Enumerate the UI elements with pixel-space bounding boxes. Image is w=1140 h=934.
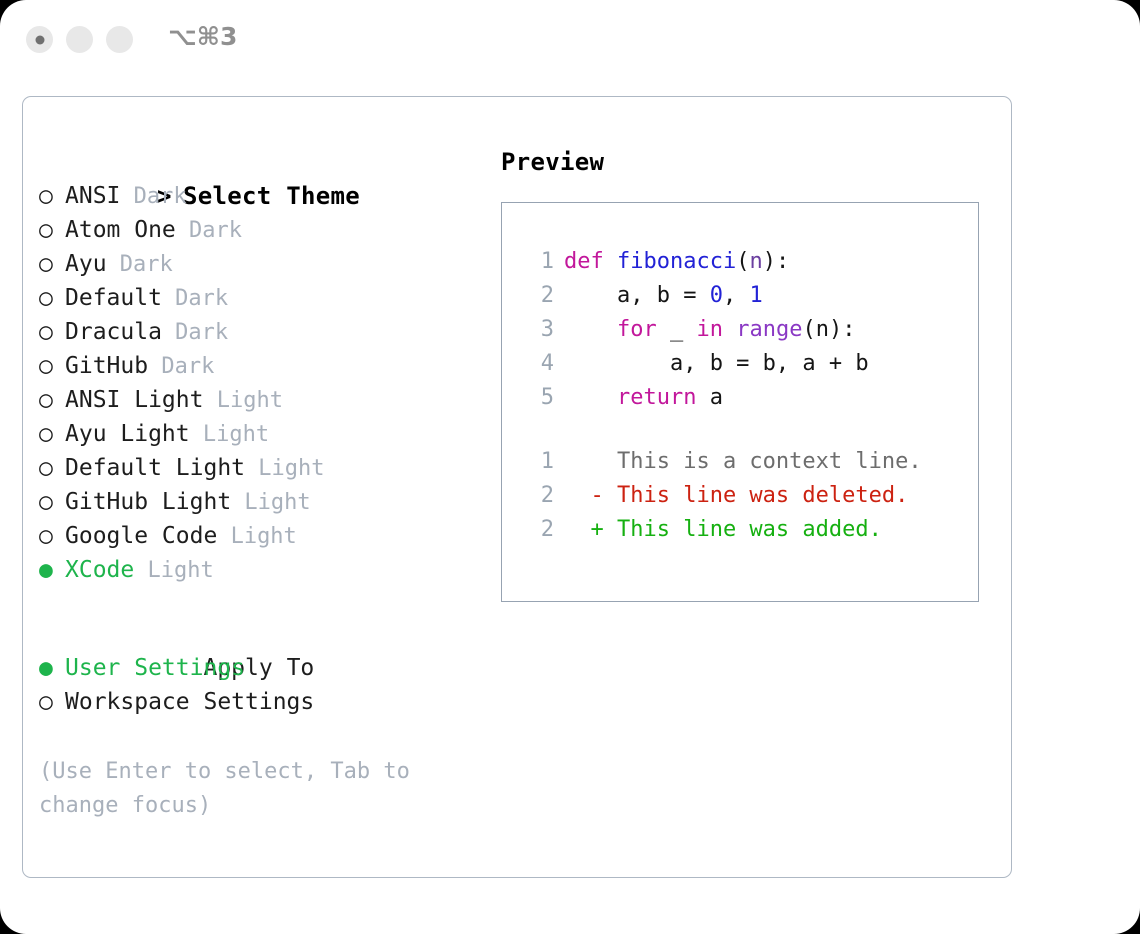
code-token: ): [763,249,790,274]
theme-option-variant: Light [217,524,296,549]
code-token [723,317,736,342]
code-token: ( [736,249,749,274]
radio-unselected-icon: ○ [39,383,65,417]
preview-box: 1def fibonacci(n):2 a, b = 0, 13 for _ i… [501,202,979,602]
theme-option-name: Dracula [65,319,162,345]
theme-option-variant: Light [203,388,282,413]
theme-option-list: ○ANSI Dark○Atom One Dark○Ayu Dark○Defaul… [39,179,469,587]
theme-option-name: GitHub [65,353,148,379]
code-token: a [696,385,723,410]
theme-option-name: Ayu [65,251,107,277]
radio-unselected-icon: ○ [39,485,65,519]
code-token: n [749,249,762,274]
theme-option-xcode[interactable]: ●XCode Light [39,553,469,587]
theme-option-variant: Light [134,558,213,583]
code-line-number: 5 [524,381,554,415]
theme-option-default-light[interactable]: ○Default Light Light [39,451,469,485]
theme-option-name: Default Light [65,455,245,481]
theme-option-ansi-light[interactable]: ○ANSI Light Light [39,383,469,417]
apply-to-option-label: User Settings [65,655,245,681]
apply-to-option-label: Workspace Settings [65,689,314,715]
apply-to-header: Apply To [39,617,469,651]
code-token: def [564,249,617,274]
radio-unselected-icon: ○ [39,179,65,213]
code-token [564,385,617,410]
preview-column: Preview 1def fibonacci(n):2 a, b = 0, 13… [501,145,991,602]
theme-option-name: Default [65,285,162,311]
theme-option-name: ANSI [65,183,120,209]
code-sample: 1def fibonacci(n):2 a, b = 0, 13 for _ i… [524,245,972,415]
diff-line-add: 2 + This line was added. [524,513,972,547]
theme-option-default[interactable]: ○Default Dark [39,281,469,315]
code-line-number: 1 [524,245,554,279]
theme-option-name: Google Code [65,523,217,549]
window-titlebar: ⌥⌘3 [0,0,1140,78]
theme-option-variant: Dark [162,320,228,345]
theme-list-column: >Select Theme ○ANSI Dark○Atom One Dark○A… [39,145,469,823]
keyboard-shortcut-label: ⌥⌘3 [168,22,237,51]
code-token: (n): [802,317,855,342]
code-line-number: 4 [524,347,554,381]
code-token: , [723,283,750,308]
code-token: a, b = b, a + b [564,351,869,376]
radio-selected-icon: ● [39,651,65,685]
code-preview-area: 1def fibonacci(n):2 a, b = 0, 13 for _ i… [524,245,972,547]
select-theme-header-label: Select Theme [183,182,360,210]
diff-sample: 1 This is a context line.2 - This line w… [524,445,972,547]
theme-option-dracula[interactable]: ○Dracula Dark [39,315,469,349]
theme-option-variant: Light [190,422,269,447]
code-line-number: 3 [524,313,554,347]
record-dot-inner [35,35,44,44]
code-line: 3 for _ in range(n): [524,313,972,347]
code-line: 2 a, b = 0, 1 [524,279,972,313]
radio-unselected-icon: ○ [39,417,65,451]
theme-option-ayu-light[interactable]: ○Ayu Light Light [39,417,469,451]
theme-option-github-light[interactable]: ○GitHub Light Light [39,485,469,519]
keyboard-hint-text: (Use Enter to select, Tab to change focu… [39,755,449,823]
dot-2[interactable] [66,26,93,53]
theme-option-name: Atom One [65,217,176,243]
radio-selected-icon: ● [39,553,65,587]
code-line-number: 2 [524,279,554,313]
code-token: a, b = [564,283,710,308]
theme-option-variant: Light [231,490,310,515]
select-theme-header: >Select Theme [39,145,469,179]
code-token: fibonacci [617,249,736,274]
diff-line-text: - This line was deleted. [564,483,908,508]
diff-line-text: This is a context line. [564,449,922,474]
code-token: in [696,317,723,342]
theme-option-variant: Dark [176,218,242,243]
theme-option-name: XCode [65,557,134,583]
code-token [564,317,617,342]
diff-line-text: + This line was added. [564,517,882,542]
theme-option-variant: Dark [162,286,228,311]
radio-unselected-icon: ○ [39,349,65,383]
apply-to-option-workspace-settings[interactable]: ○Workspace Settings [39,685,469,719]
dot-3[interactable] [106,26,133,53]
theme-option-github[interactable]: ○GitHub Dark [39,349,469,383]
radio-unselected-icon: ○ [39,451,65,485]
theme-option-variant: Light [245,456,324,481]
theme-picker-panel: >Select Theme ○ANSI Dark○Atom One Dark○A… [22,96,1012,878]
diff-line-number: 2 [524,513,554,547]
radio-unselected-icon: ○ [39,315,65,349]
radio-unselected-icon: ○ [39,519,65,553]
code-token: 1 [749,283,762,308]
code-token: return [617,385,696,410]
diff-line-ctx: 1 This is a context line. [524,445,972,479]
code-token: _ [657,317,697,342]
theme-option-name: GitHub Light [65,489,231,515]
diff-line-del: 2 - This line was deleted. [524,479,972,513]
theme-option-name: Ayu Light [65,421,190,447]
theme-option-name: ANSI Light [65,387,203,413]
diff-line-number: 2 [524,479,554,513]
radio-unselected-icon: ○ [39,281,65,315]
theme-option-atom-one[interactable]: ○Atom One Dark [39,213,469,247]
code-token: for [617,317,657,342]
radio-unselected-icon: ○ [39,247,65,281]
terminal-window: ⌥⌘3 >Select Theme ○ANSI Dark○Atom One Da… [0,0,1140,934]
code-line: 4 a, b = b, a + b [524,347,972,381]
code-token: 0 [710,283,723,308]
code-line: 5 return a [524,381,972,415]
preview-title: Preview [501,145,991,179]
apply-to-section: Apply To ●User Settings○Workspace Settin… [39,617,469,719]
record-dot[interactable] [26,26,53,53]
theme-option-variant: Dark [107,252,173,277]
radio-unselected-icon: ○ [39,213,65,247]
theme-option-google-code[interactable]: ○Google Code Light [39,519,469,553]
code-line: 1def fibonacci(n): [524,245,972,279]
code-diff-spacer [524,415,972,445]
diff-line-number: 1 [524,445,554,479]
radio-unselected-icon: ○ [39,685,65,719]
theme-option-variant: Dark [120,184,186,209]
theme-option-ayu[interactable]: ○Ayu Dark [39,247,469,281]
theme-option-variant: Dark [148,354,214,379]
code-token: range [736,317,802,342]
